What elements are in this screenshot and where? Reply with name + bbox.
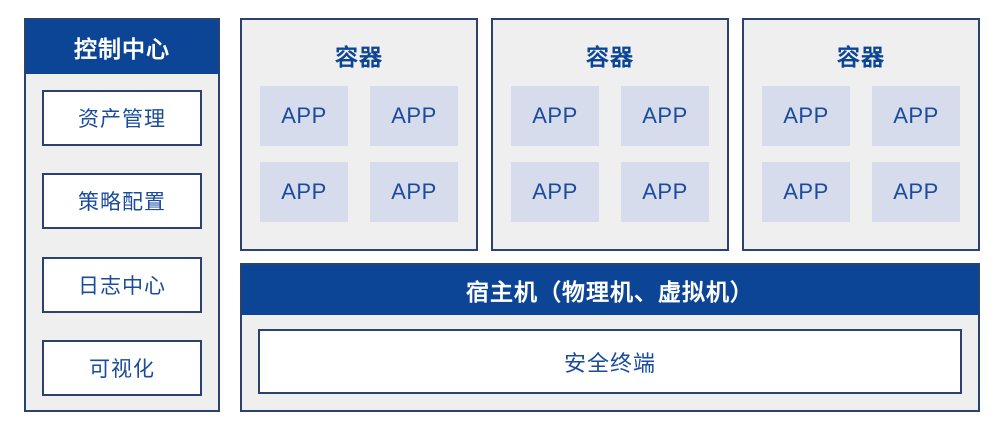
secure-terminal-box[interactable]: 安全终端	[258, 329, 962, 394]
container-title: 容器	[586, 38, 634, 72]
container-box-2: 容器 APP APP APP APP	[491, 18, 729, 251]
app-box[interactable]: APP	[370, 86, 458, 146]
app-box[interactable]: APP	[370, 162, 458, 222]
app-box[interactable]: APP	[872, 86, 960, 146]
app-grid: APP APP APP APP	[762, 86, 960, 222]
host-machine-title: 宿主机（物理机、虚拟机）	[242, 265, 978, 315]
container-title: 容器	[837, 38, 885, 72]
control-center-title: 控制中心	[26, 20, 218, 74]
control-center-panel: 控制中心 资产管理 策略配置 日志中心 可视化	[24, 18, 220, 412]
app-grid: APP APP APP APP	[260, 86, 458, 222]
right-stack: 容器 APP APP APP APP 容器 APP APP APP APP	[240, 18, 980, 412]
app-box[interactable]: APP	[762, 86, 850, 146]
containers-row: 容器 APP APP APP APP 容器 APP APP APP APP	[240, 18, 980, 251]
control-item-log-center[interactable]: 日志中心	[42, 257, 202, 313]
app-box[interactable]: APP	[872, 162, 960, 222]
control-center-item-list: 资产管理 策略配置 日志中心 可视化	[26, 74, 218, 410]
architecture-diagram: 控制中心 资产管理 策略配置 日志中心 可视化 容器 APP APP APP A…	[0, 0, 1001, 437]
app-box[interactable]: APP	[511, 162, 599, 222]
app-box[interactable]: APP	[511, 86, 599, 146]
host-machine-panel: 宿主机（物理机、虚拟机） 安全终端	[240, 263, 980, 412]
app-grid: APP APP APP APP	[511, 86, 709, 222]
control-item-visualization[interactable]: 可视化	[42, 340, 202, 396]
control-item-asset-management[interactable]: 资产管理	[42, 90, 202, 146]
container-box-1: 容器 APP APP APP APP	[240, 18, 478, 251]
app-box[interactable]: APP	[260, 162, 348, 222]
app-box[interactable]: APP	[260, 86, 348, 146]
container-title: 容器	[335, 38, 383, 72]
control-item-policy-configuration[interactable]: 策略配置	[42, 173, 202, 229]
host-machine-body: 安全终端	[242, 315, 978, 410]
app-box[interactable]: APP	[762, 162, 850, 222]
container-box-3: 容器 APP APP APP APP	[742, 18, 980, 251]
app-box[interactable]: APP	[621, 162, 709, 222]
app-box[interactable]: APP	[621, 86, 709, 146]
